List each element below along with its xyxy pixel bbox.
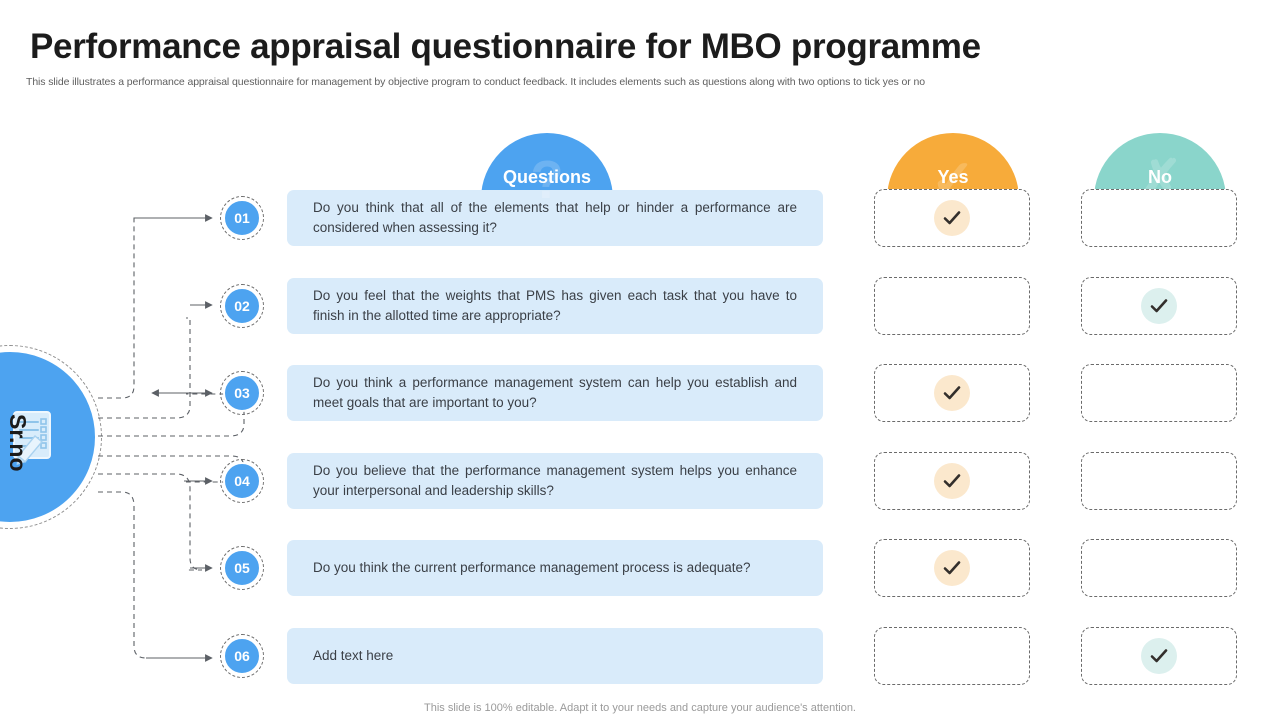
column-header-yes: ✓ Yes: [887, 133, 1019, 199]
row-number-badge: 03: [220, 371, 264, 415]
footer-note: This slide is 100% editable. Adapt it to…: [0, 702, 1280, 714]
question-text: Do you believe that the performance mana…: [313, 461, 797, 501]
row-number-badge: 01: [220, 196, 264, 240]
row-number-label: 03: [223, 374, 261, 412]
answer-cell-yes[interactable]: [874, 277, 1030, 335]
answer-cell-no[interactable]: [1081, 627, 1237, 685]
question-box[interactable]: Do you think the current performance man…: [287, 540, 823, 596]
column-label-questions: Questions: [503, 167, 591, 199]
question-box[interactable]: Do you think a performance management sy…: [287, 365, 823, 421]
row-number-label: 01: [223, 199, 261, 237]
check-icon: [934, 200, 970, 236]
column-header-questions: ? Questions: [481, 133, 613, 199]
row-number-label: 02: [223, 287, 261, 325]
check-icon: [934, 375, 970, 411]
answer-cell-yes[interactable]: [874, 539, 1030, 597]
row-number-badge: 02: [220, 284, 264, 328]
answer-cell-yes[interactable]: [874, 452, 1030, 510]
page-subtitle: This slide illustrates a performance app…: [26, 76, 1256, 88]
check-icon: [934, 463, 970, 499]
question-box[interactable]: Do you feel that the weights that PMS ha…: [287, 278, 823, 334]
row-number-badge: 04: [220, 459, 264, 503]
srno-circle: Sr.no: [0, 349, 98, 525]
page-title: Performance appraisal questionnaire for …: [30, 27, 981, 67]
srno-badge: Sr.no: [0, 345, 102, 529]
row-number-label: 04: [223, 462, 261, 500]
answer-cell-yes[interactable]: [874, 627, 1030, 685]
answer-cell-no[interactable]: [1081, 539, 1237, 597]
column-header-no: ✗ No: [1094, 133, 1226, 199]
question-box[interactable]: Add text here: [287, 628, 823, 684]
answer-cell-no[interactable]: [1081, 452, 1237, 510]
check-icon: [1141, 638, 1177, 674]
question-text: Do you think the current performance man…: [313, 558, 751, 578]
answer-cell-yes[interactable]: [874, 364, 1030, 422]
row-number-badge: 05: [220, 546, 264, 590]
check-icon: [934, 550, 970, 586]
slide-canvas: Performance appraisal questionnaire for …: [0, 0, 1280, 720]
check-icon: [1141, 288, 1177, 324]
question-box[interactable]: Do you believe that the performance mana…: [287, 453, 823, 509]
srno-label: Sr.no: [4, 414, 31, 472]
row-number-label: 05: [223, 549, 261, 587]
question-text: Add text here: [313, 646, 393, 666]
row-number-badge: 06: [220, 634, 264, 678]
question-text: Do you think a performance management sy…: [313, 373, 797, 413]
column-label-no: No: [1148, 167, 1172, 199]
row-number-label: 06: [223, 637, 261, 675]
column-label-yes: Yes: [937, 167, 968, 199]
answer-cell-no[interactable]: [1081, 277, 1237, 335]
question-text: Do you think that all of the elements th…: [313, 198, 797, 238]
connector-lines: [0, 0, 1280, 720]
question-text: Do you feel that the weights that PMS ha…: [313, 286, 797, 326]
answer-cell-no[interactable]: [1081, 364, 1237, 422]
